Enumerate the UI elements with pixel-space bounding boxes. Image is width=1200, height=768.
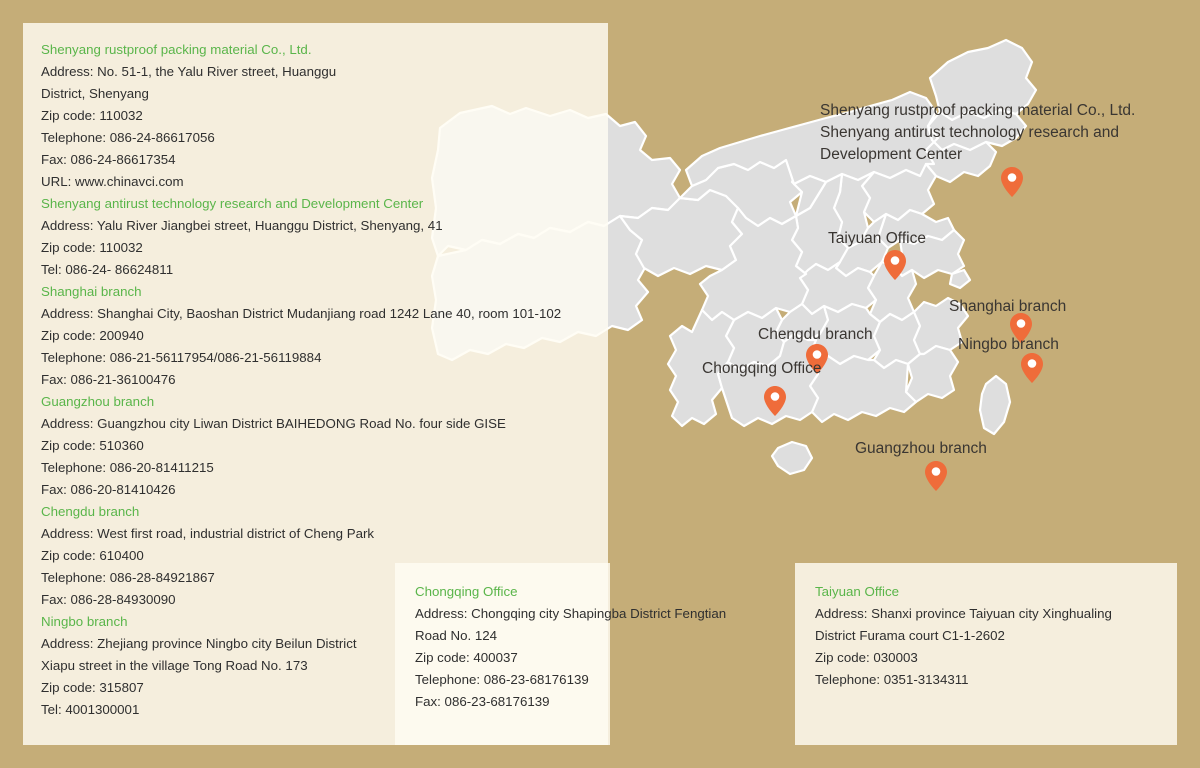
map-label-chengdu: Chengdu branch	[758, 324, 873, 346]
map-label-guangzhou: Guangzhou branch	[855, 438, 987, 460]
entry-line: Telephone: 086-20-81411215	[41, 457, 590, 479]
entry-line: Tel: 086-24- 86624811	[41, 259, 590, 281]
contact-map-page: Shenyang rustproof packing material Co.,…	[0, 0, 1200, 768]
entry-line: Telephone: 086-21-56117954/086-21-561198…	[41, 347, 590, 369]
entry-line: Fax: 086-23-68176139	[415, 691, 590, 713]
entry-line: Road No. 124	[415, 625, 590, 647]
entry-title-shanghai: Shanghai branch	[41, 281, 590, 303]
entry-line-url: URL: www.chinavci.com	[41, 171, 590, 193]
entry-title-chengdu: Chengdu branch	[41, 501, 590, 523]
entry-line: Zip code: 510360	[41, 435, 590, 457]
map-pin-shenyang[interactable]	[1001, 167, 1023, 197]
entry-line: Address: No. 51-1, the Yalu River street…	[41, 61, 590, 83]
province-shanghai	[950, 270, 970, 288]
province-hainan	[772, 442, 812, 474]
map-label-shenyang-line1: Shenyang rustproof packing material Co.,…	[820, 100, 1135, 122]
entry-line: Address: West first road, industrial dis…	[41, 523, 590, 545]
entry-line: District, Shenyang	[41, 83, 590, 105]
map-label-chongqing: Chongqing Office	[702, 358, 822, 380]
province-hubei	[800, 262, 876, 314]
province-taiwan	[980, 376, 1010, 434]
entry-line: Telephone: 086-24-86617056	[41, 127, 590, 149]
entry-line: Address: Chongqing city Shapingba Distri…	[415, 603, 590, 625]
entry-line: Zip code: 030003	[815, 647, 1157, 669]
entry-line: Fax: 086-24-86617354	[41, 149, 590, 171]
entry-line: Zip code: 110032	[41, 237, 590, 259]
map-label-shanghai: Shanghai branch	[949, 296, 1066, 318]
entry-line: Fax: 086-21-36100476	[41, 369, 590, 391]
entry-title-shenyang-rustproof: Shenyang rustproof packing material Co.,…	[41, 39, 590, 61]
map-pin-taiyuan[interactable]	[884, 250, 906, 280]
entry-title-taiyuan: Taiyuan Office	[815, 581, 1157, 603]
chongqing-office-panel-body: Chongqing Office Address: Chongqing city…	[395, 563, 610, 731]
taiyuan-office-panel-body: Taiyuan Office Address: Shanxi province …	[795, 563, 1177, 709]
map-label-shenyang-line3: Development Center	[820, 144, 962, 166]
entry-line: Fax: 086-20-81410426	[41, 479, 590, 501]
entry-line: Address: Shanghai City, Baoshan District…	[41, 303, 590, 325]
entry-line: Address: Guangzhou city Liwan District B…	[41, 413, 590, 435]
entry-title-chongqing: Chongqing Office	[415, 581, 590, 603]
entry-line: Zip code: 200940	[41, 325, 590, 347]
map-pin-ningbo[interactable]	[1021, 353, 1043, 383]
map-pin-chongqing[interactable]	[764, 386, 786, 416]
map-label-shenyang-line2: Shenyang antirust technology research an…	[820, 122, 1119, 144]
map-label-ningbo: Ningbo branch	[958, 334, 1059, 356]
chongqing-office-panel: Chongqing Office Address: Chongqing city…	[395, 563, 610, 745]
entry-line: Telephone: 0351-3134311	[815, 669, 1157, 691]
entry-line: District Furama court C1-1-2602	[815, 625, 1157, 647]
entry-line: Address: Yalu River Jiangbei street, Hua…	[41, 215, 590, 237]
entry-title-guangzhou: Guangzhou branch	[41, 391, 590, 413]
map-label-taiyuan: Taiyuan Office	[828, 228, 926, 250]
map-pin-guangzhou[interactable]	[925, 461, 947, 491]
entry-line: Address: Shanxi province Taiyuan city Xi…	[815, 603, 1157, 625]
entry-line: Zip code: 400037	[415, 647, 590, 669]
entry-title-shenyang-antirust: Shenyang antirust technology research an…	[41, 193, 590, 215]
taiyuan-office-panel: Taiyuan Office Address: Shanxi province …	[795, 563, 1177, 745]
entry-line: Zip code: 110032	[41, 105, 590, 127]
entry-line: Telephone: 086-23-68176139	[415, 669, 590, 691]
